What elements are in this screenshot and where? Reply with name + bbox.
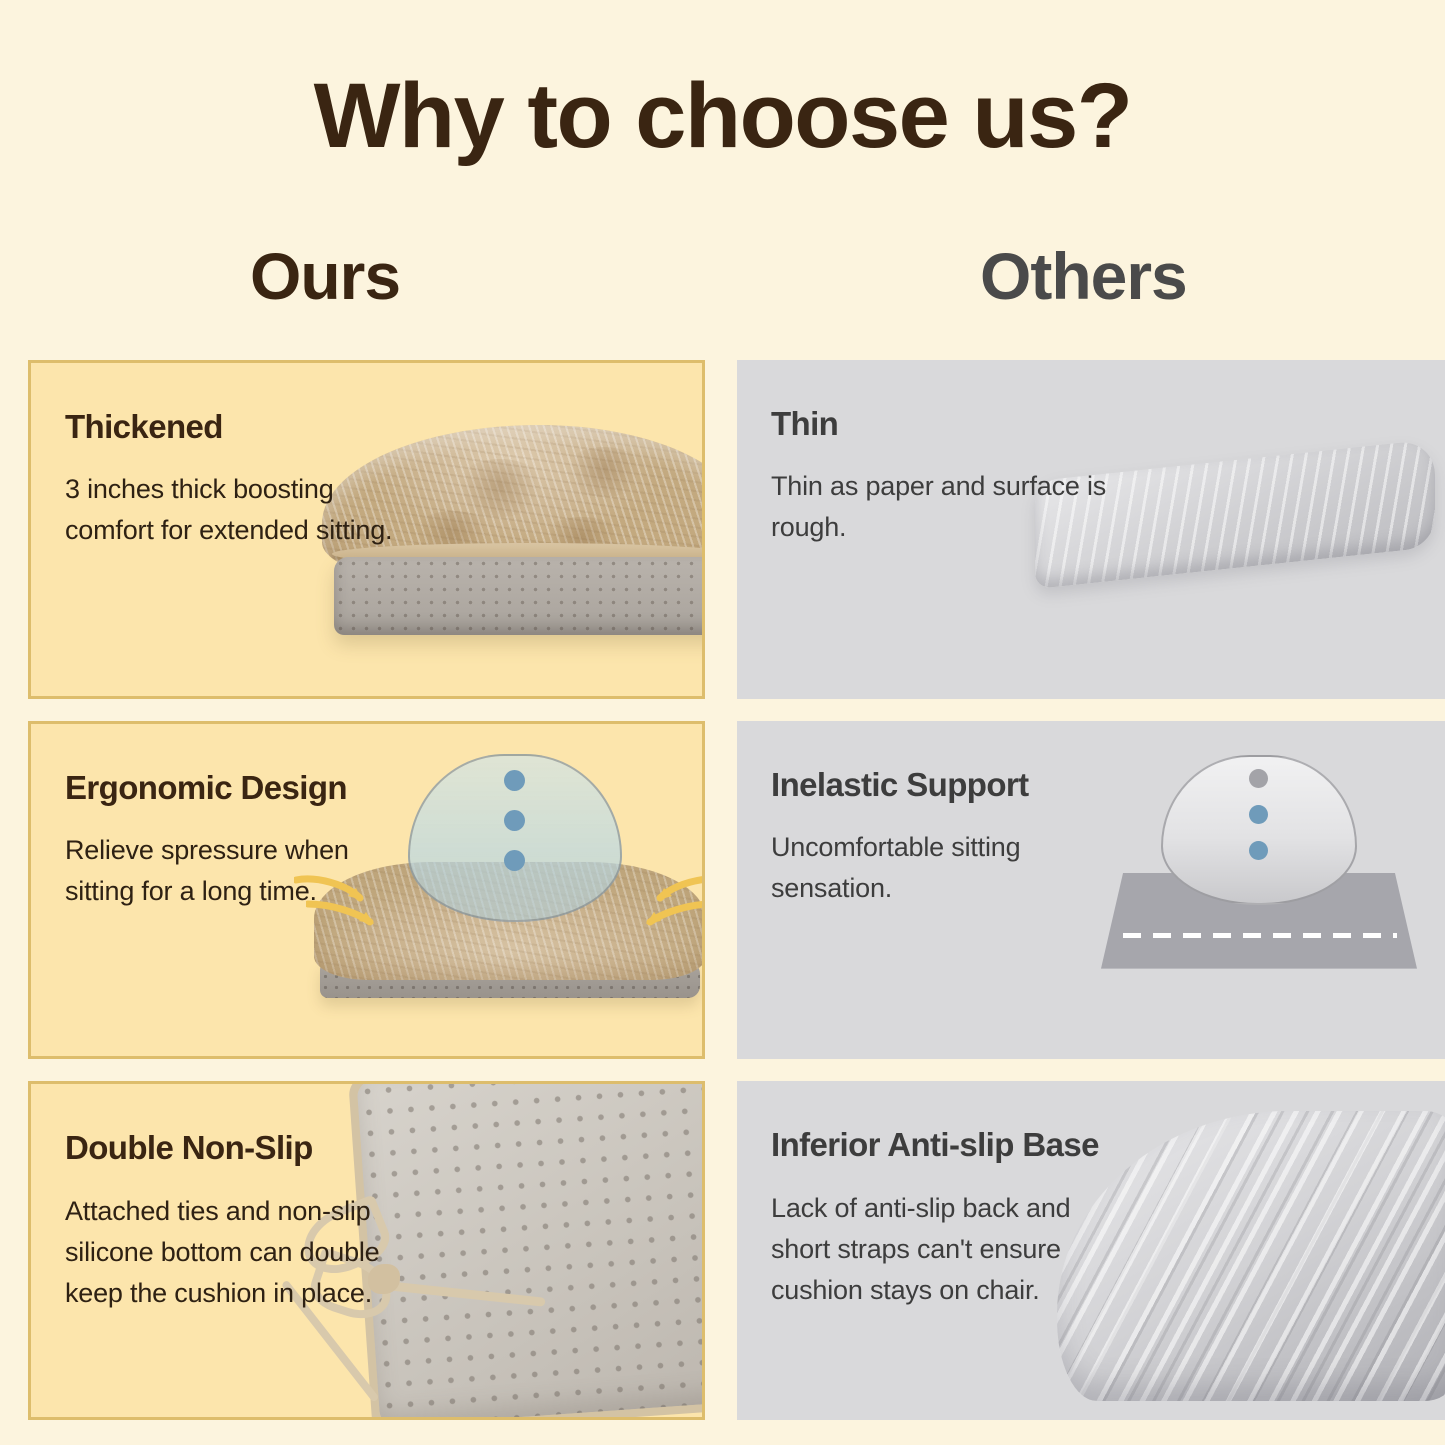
card-title: Ergonomic Design [65, 770, 411, 806]
dashed-line [1123, 933, 1397, 938]
card-description: Lack of anti-slip back and short straps … [771, 1188, 1117, 1311]
card-description: Thin as paper and surface is rough. [771, 466, 1117, 548]
card-description: Relieve spressure when sitting for a lon… [65, 830, 411, 912]
column-header-ours: Ours [250, 238, 400, 314]
spine-dot-icon [504, 810, 525, 831]
comparison-infographic: Why to choose us? Ours Others Thickened … [0, 0, 1445, 1445]
spine-dot-icon [504, 770, 525, 791]
spine-dot-icon [1249, 805, 1268, 824]
card-ours-thickened: Thickened 3 inches thick boosting comfor… [28, 360, 705, 699]
spine-dot-icon [1249, 769, 1268, 788]
card-others-inelastic-support: Inelastic Support Uncomfortable sitting … [737, 721, 1445, 1060]
card-title: Inferior Anti-slip Base [771, 1127, 1117, 1163]
pressure-arrow-icon [636, 900, 705, 936]
card-title: Thin [771, 406, 1117, 442]
inelastic-diagram-image [1101, 755, 1421, 985]
page-title: Why to choose us? [0, 64, 1445, 169]
spine-dot-icon [504, 850, 525, 871]
card-others-inferior-anti-slip-base: Inferior Anti-slip Base Lack of anti-sli… [737, 1081, 1445, 1420]
card-others-thin: Thin Thin as paper and surface is rough. [737, 360, 1445, 699]
spine-dot-icon [1249, 841, 1268, 860]
card-title: Inelastic Support [771, 767, 1117, 803]
column-header-others: Others [980, 238, 1187, 314]
card-description: 3 inches thick boosting comfort for exte… [65, 469, 411, 551]
card-ours-double-non-slip: Double Non-Slip Attached ties and non-sl… [28, 1081, 705, 1420]
comparison-grid: Thickened 3 inches thick boosting comfor… [28, 360, 1417, 1420]
card-ours-ergonomic-design: Ergonomic Design Relieve spressure when … [28, 721, 705, 1060]
pressure-arrow-icon [648, 874, 705, 910]
card-description: Attached ties and non-slip silicone bott… [65, 1191, 411, 1314]
card-title: Thickened [65, 409, 411, 445]
card-description: Uncomfortable sitting sensation. [771, 827, 1117, 909]
card-title: Double Non-Slip [65, 1130, 411, 1166]
